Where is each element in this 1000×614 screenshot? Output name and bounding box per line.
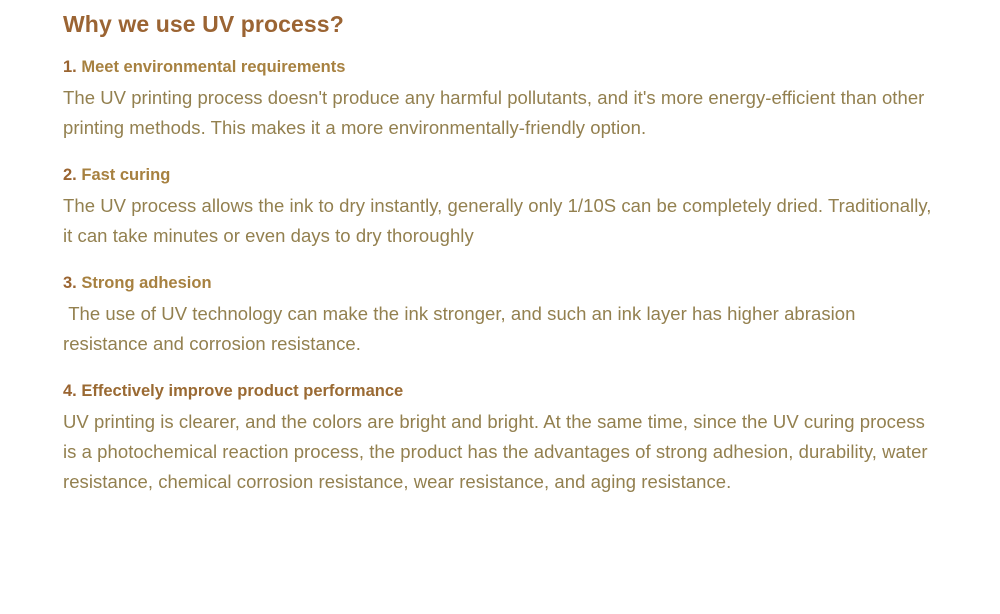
section-2-heading: 2. Fast curing bbox=[63, 164, 940, 186]
section-1-heading-text: Meet environmental requirements bbox=[81, 58, 345, 76]
section-2: 2. Fast curing The UV process allows the… bbox=[63, 164, 940, 251]
section-3: 3. Strong adhesion The use of UV technol… bbox=[63, 272, 940, 359]
section-3-body: The use of UV technology can make the in… bbox=[63, 299, 940, 359]
section-4-number: 4. bbox=[63, 382, 77, 400]
section-3-heading: 3. Strong adhesion bbox=[63, 272, 940, 294]
section-4-heading: 4. Effectively improve product performan… bbox=[63, 380, 940, 402]
section-4: 4. Effectively improve product performan… bbox=[63, 380, 940, 497]
page-title: Why we use UV process? bbox=[63, 8, 940, 40]
section-1-body: The UV printing process doesn't produce … bbox=[63, 83, 940, 143]
section-2-body: The UV process allows the ink to dry ins… bbox=[63, 191, 940, 251]
section-1-number: 1. bbox=[63, 58, 77, 76]
document-page: Why we use UV process? 1. Meet environme… bbox=[0, 0, 1000, 614]
section-2-heading-text: Fast curing bbox=[81, 166, 170, 184]
section-1-heading: 1. Meet environmental requirements bbox=[63, 56, 940, 78]
section-4-heading-text: Effectively improve product performance bbox=[81, 382, 403, 400]
section-2-number: 2. bbox=[63, 166, 77, 184]
section-4-body: UV printing is clearer, and the colors a… bbox=[63, 407, 940, 497]
section-3-heading-text: Strong adhesion bbox=[81, 274, 211, 292]
section-3-number: 3. bbox=[63, 274, 77, 292]
section-1: 1. Meet environmental requirements The U… bbox=[63, 56, 940, 143]
